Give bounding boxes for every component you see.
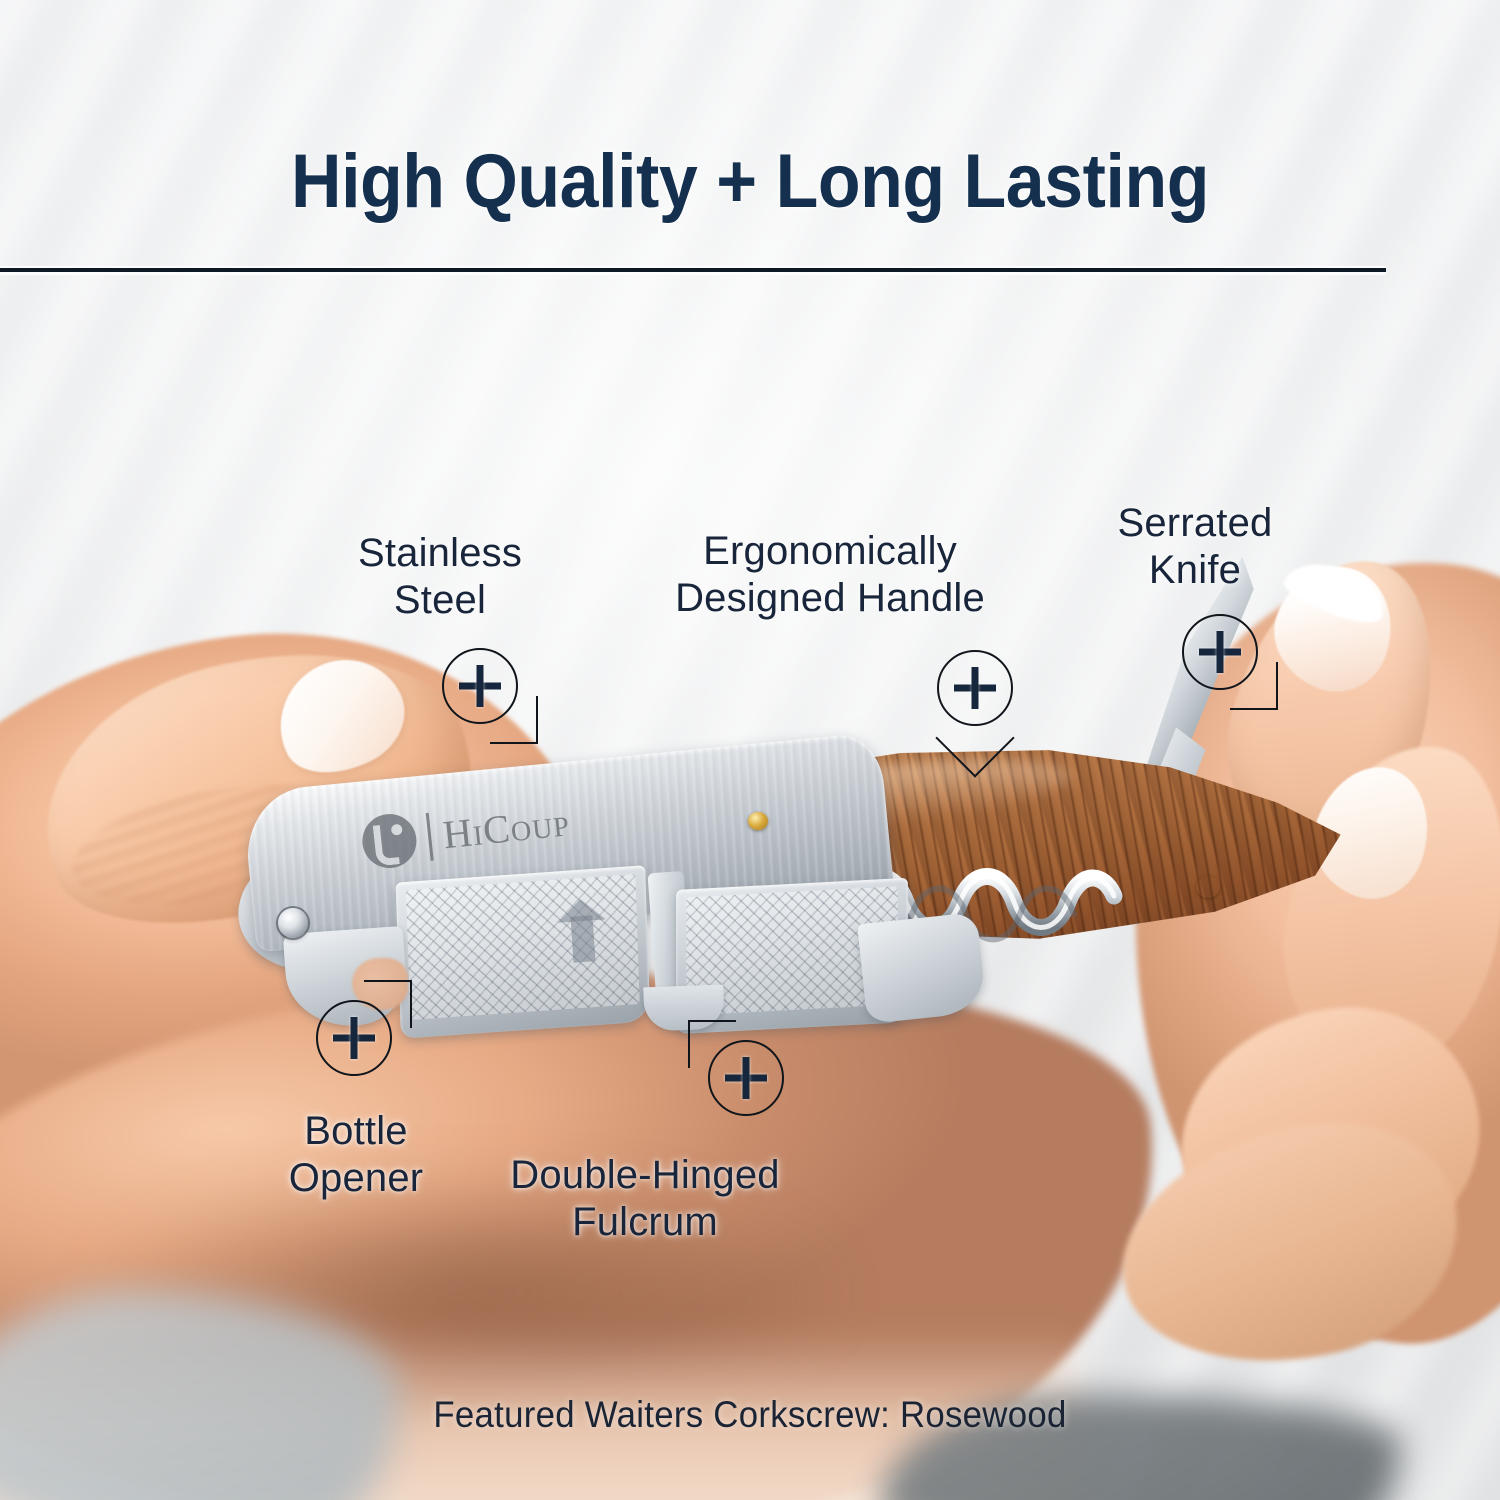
- brand-wordmark: HiCoup: [441, 802, 571, 855]
- brass-pin-front: [748, 812, 768, 830]
- page-title: High Quality + Long Lasting: [60, 138, 1440, 225]
- callout-label-bottle-opener: Bottle Opener: [236, 1108, 476, 1202]
- title-divider: [0, 268, 1386, 272]
- callout-label-ergonomic-handle: Ergonomically Designed Handle: [620, 528, 1040, 622]
- plus-icon-vertical: [477, 665, 484, 707]
- callout-label-double-hinged-fulcrum: Double-Hinged Fulcrum: [450, 1152, 840, 1246]
- callout-marker-serrated-knife[interactable]: [1182, 614, 1258, 690]
- brass-pin-rear: [1196, 876, 1220, 898]
- hicoup-emblem-icon: [360, 811, 419, 870]
- callout-marker-stainless-steel[interactable]: [442, 648, 518, 724]
- callout-label-serrated-knife: Serrated Knife: [1055, 500, 1335, 594]
- fulcrum-arm-primary: [396, 865, 651, 1038]
- featured-product-note: Featured Waiters Corkscrew: Rosewood: [45, 1394, 1455, 1436]
- waiters-corkscrew: HiCoup: [0, 0, 1500, 1500]
- pivot-rivet: [278, 908, 308, 938]
- callout-marker-bottle-opener[interactable]: [316, 1000, 392, 1076]
- callout-marker-ergonomic-handle[interactable]: [937, 650, 1013, 726]
- product-infographic: HiCoup High Quality + Long Lasting Stain…: [0, 0, 1500, 1500]
- logo-divider: [426, 813, 434, 861]
- callout-label-stainless-steel: Stainless Steel: [315, 530, 565, 624]
- marker-tail-corner-bottom-right: [490, 696, 538, 744]
- plus-icon-vertical: [351, 1017, 358, 1059]
- callout-marker-double-hinged-fulcrum[interactable]: [708, 1040, 784, 1116]
- plus-icon-vertical: [972, 667, 979, 709]
- product-photo-scene: HiCoup: [0, 0, 1500, 1500]
- knurled-texture-primary: [406, 874, 640, 1020]
- plus-icon-vertical: [743, 1057, 750, 1099]
- plus-icon-vertical: [1217, 631, 1224, 673]
- arrow-mark-icon: [570, 915, 595, 962]
- marker-tail-corner-top-left: [688, 1020, 736, 1068]
- marker-tail-corner-bottom-right: [1230, 662, 1278, 710]
- marker-tail-corner-top-right: [364, 980, 412, 1028]
- steel-tail: [857, 912, 987, 1024]
